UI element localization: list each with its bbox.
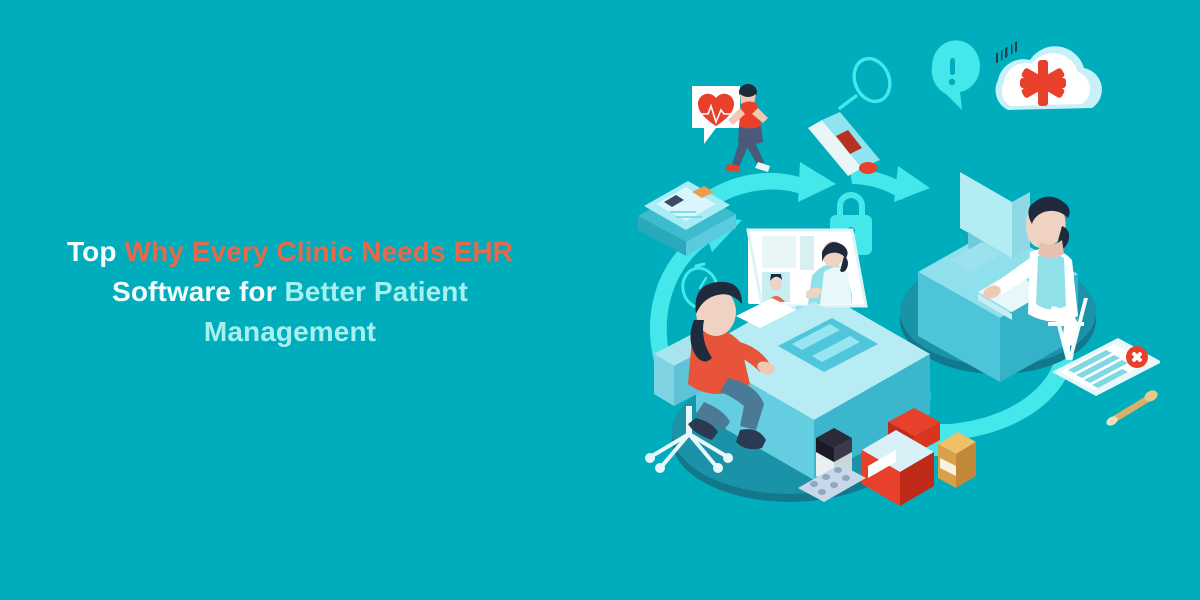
headline-line-1: Top Why Every Clinic Needs EHR: [40, 232, 540, 272]
cloud-medical-icon: [996, 46, 1102, 110]
headline-phrase-management: Management: [204, 316, 376, 347]
headline-line-3: Management: [40, 312, 540, 352]
headline-line-2: Software for Better Patient: [40, 272, 540, 312]
headline-word-top: Top: [67, 236, 124, 267]
self-view-thumbnail: [762, 272, 790, 302]
headline-phrase-better-patient: Better Patient: [284, 276, 467, 307]
headline-phrase-why-every-clinic: Why Every Clinic Needs EHR: [124, 236, 513, 267]
ehr-workflow-illustration: [600, 20, 1160, 580]
thermometer: [808, 112, 880, 176]
heart-rate-bubble: [692, 86, 740, 144]
alert-bubble-icon: [932, 40, 980, 110]
headline-block: Top Why Every Clinic Needs EHR Software …: [40, 232, 540, 352]
dropper: [1105, 388, 1160, 427]
headline-phrase-software-for: Software for: [112, 276, 284, 307]
banner: Top Why Every Clinic Needs EHR Software …: [0, 0, 1200, 600]
page-title: Top Why Every Clinic Needs EHR Software …: [40, 232, 540, 352]
magnifier-top-icon: [840, 53, 896, 108]
